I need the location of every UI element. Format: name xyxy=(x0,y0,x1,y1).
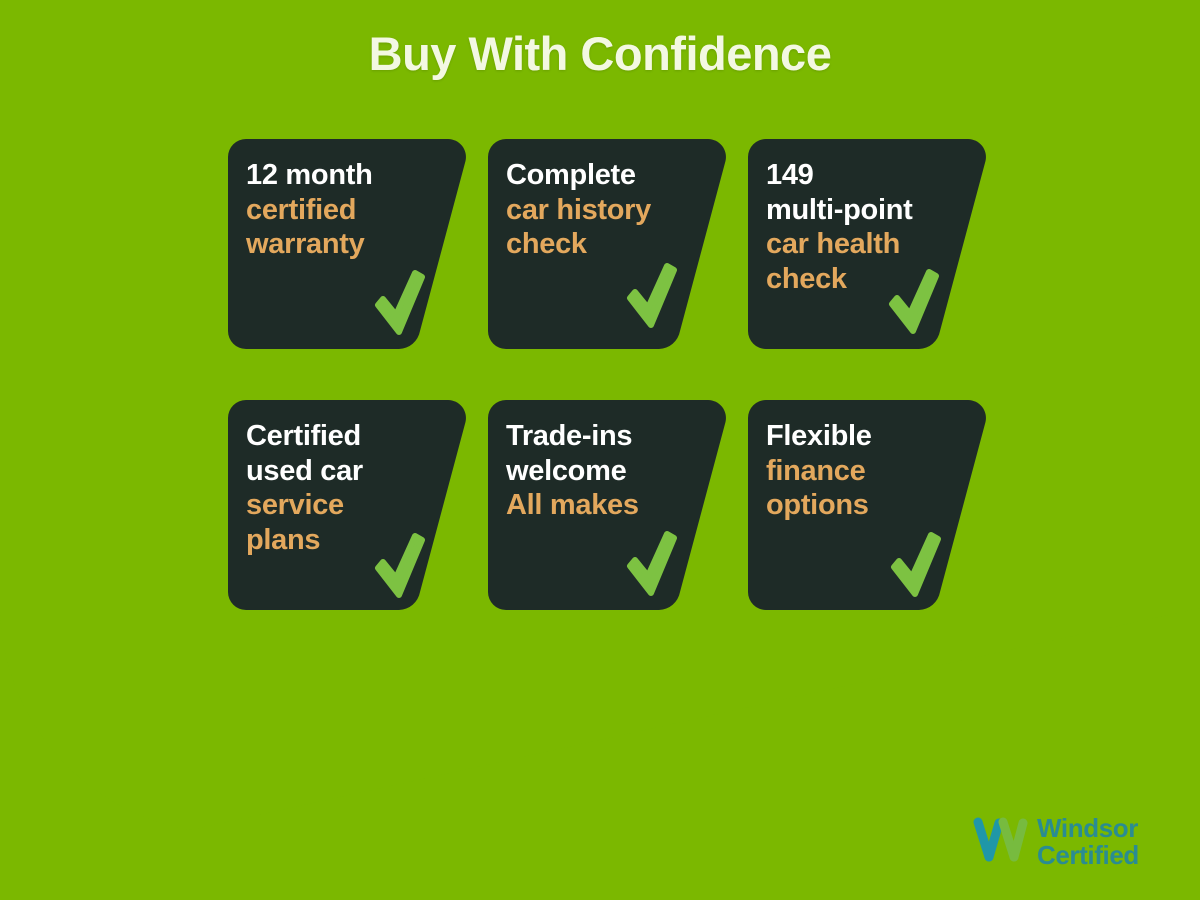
feature-card-grid: 12 month certified warranty Complete car… xyxy=(228,139,988,609)
logo-line-certified: Certified xyxy=(1037,842,1139,869)
feature-card-service-plans[interactable]: Certified used car service plans xyxy=(228,400,468,610)
card-line: certified xyxy=(246,193,442,228)
card-line: warranty xyxy=(246,227,442,262)
card-line: 149 xyxy=(766,158,962,193)
card-line: welcome xyxy=(506,454,702,489)
card-line: Complete xyxy=(506,158,702,193)
feature-card-trade-ins[interactable]: Trade-ins welcome All makes xyxy=(488,400,728,610)
check-icon xyxy=(374,270,426,336)
windsor-certified-logo[interactable]: Windsor Certified xyxy=(972,811,1162,873)
card-text: Complete car history check xyxy=(506,158,702,262)
card-text: Flexible finance options xyxy=(766,419,962,523)
card-line: 12 month xyxy=(246,158,442,193)
card-line: options xyxy=(766,488,962,523)
check-icon xyxy=(374,533,426,599)
check-icon xyxy=(890,532,942,598)
logo-line-windsor: Windsor xyxy=(1037,815,1139,842)
card-line: car health xyxy=(766,227,962,262)
card-line: All makes xyxy=(506,488,702,523)
card-text: Trade-ins welcome All makes xyxy=(506,419,702,523)
windsor-w-mark-icon xyxy=(972,817,1028,867)
card-line: Certified xyxy=(246,419,442,454)
feature-card-health-check[interactable]: 149 multi-point car health check xyxy=(748,139,988,349)
check-icon xyxy=(626,263,678,329)
feature-card-history-check[interactable]: Complete car history check xyxy=(488,139,728,349)
card-line: service xyxy=(246,488,442,523)
promo-banner: Buy With Confidence 12 month certified w… xyxy=(0,0,1200,900)
card-text: 12 month certified warranty xyxy=(246,158,442,262)
card-line: Trade-ins xyxy=(506,419,702,454)
feature-card-finance[interactable]: Flexible finance options xyxy=(748,400,988,610)
card-line: used car xyxy=(246,454,442,489)
check-icon xyxy=(888,269,940,335)
page-title: Buy With Confidence xyxy=(0,26,1200,81)
feature-card-warranty[interactable]: 12 month certified warranty xyxy=(228,139,468,349)
card-line: multi-point xyxy=(766,193,962,228)
logo-wordmark: Windsor Certified xyxy=(1037,815,1139,869)
card-line: Flexible xyxy=(766,419,962,454)
card-line: check xyxy=(506,227,702,262)
card-line: car history xyxy=(506,193,702,228)
check-icon xyxy=(626,531,678,597)
card-line: finance xyxy=(766,454,962,489)
